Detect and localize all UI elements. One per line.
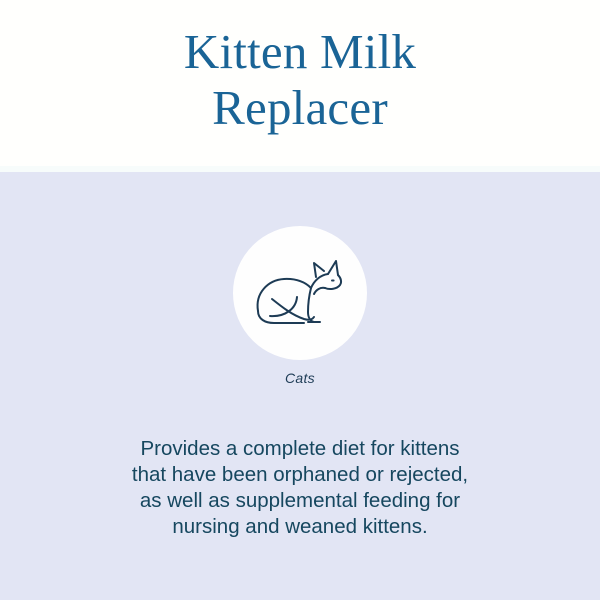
species-label: Cats (0, 370, 600, 386)
product-info-card: Kitten Milk Replacer (0, 0, 600, 600)
product-description: Provides a complete diet for kittens tha… (60, 436, 540, 540)
header-band: Kitten Milk Replacer (0, 0, 600, 172)
cat-icon (252, 255, 348, 333)
page-title: Kitten Milk Replacer (0, 24, 600, 136)
species-badge (233, 226, 367, 360)
